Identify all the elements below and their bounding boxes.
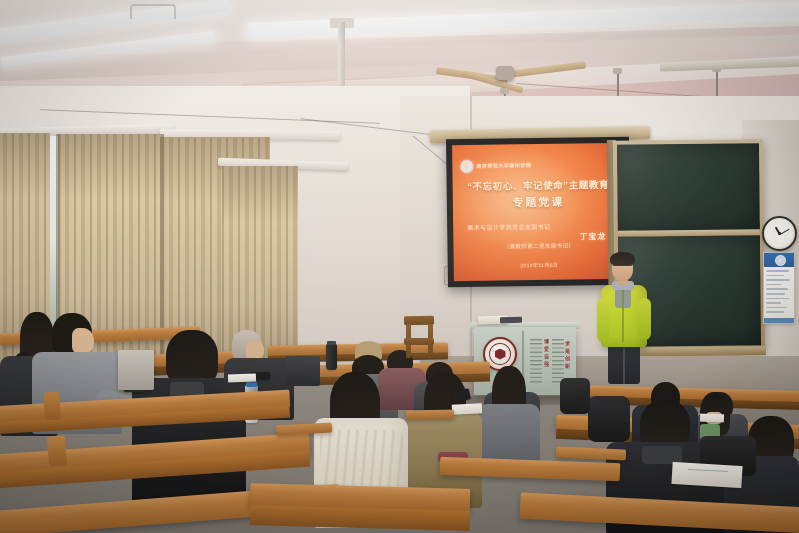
blackboard-upper-panel xyxy=(617,143,760,232)
paper-sheet xyxy=(228,374,256,383)
slide-title-line2: 专题党课 xyxy=(453,193,624,211)
light-bracket xyxy=(130,4,176,19)
wall-equipment-box xyxy=(118,350,154,390)
notice-header xyxy=(764,253,794,267)
paper-sheet xyxy=(700,414,724,423)
notice-text-lines xyxy=(766,270,792,316)
lamp-cap xyxy=(613,68,622,74)
jacket-zipper xyxy=(622,288,624,342)
bag xyxy=(560,378,590,414)
speaker-leg-gap xyxy=(623,348,625,384)
thermos-cap xyxy=(327,341,336,345)
equipment-case xyxy=(286,356,320,386)
desk-divider xyxy=(43,392,60,421)
slide-logo: 南京师范大学泰州学院 xyxy=(460,159,531,173)
backpack xyxy=(588,396,630,442)
thermos[interactable] xyxy=(326,344,337,370)
slide-logo-text: 南京师范大学泰州学院 xyxy=(476,162,531,170)
open-notebook xyxy=(452,403,482,415)
wall-clock xyxy=(762,216,797,251)
slide-title-line1: “不忘初心、牢记使命”主题教育 xyxy=(453,177,624,193)
podium-device xyxy=(500,317,522,324)
audience-face xyxy=(72,328,94,354)
audience-face xyxy=(246,340,264,360)
open-notebook xyxy=(671,462,742,488)
desk-divider xyxy=(47,435,67,466)
university-seal-icon xyxy=(460,160,473,173)
podium-motto-right: 求是创新 xyxy=(564,341,571,379)
seal-icon xyxy=(775,255,786,266)
slide-presenter-role: 美术与设计学院党总支副书记 xyxy=(467,222,550,232)
speaker-arm-right xyxy=(638,298,651,340)
podium-motto-left: 博爱自强 xyxy=(543,339,550,379)
bench-seat xyxy=(406,410,454,420)
classroom-photo: 南京师范大学泰州学院 “不忘初心、牢记使命”主题教育 专题党课 美术与设计学院党… xyxy=(0,0,799,533)
speaker-arm-left xyxy=(597,298,610,342)
projection-screen: 南京师范大学泰州学院 “不忘初心、牢记使命”主题教育 专题党课 美术与设计学院党… xyxy=(446,137,631,288)
projected-slide: 南京师范大学泰州学院 “不忘初心、牢记使命”主题教育 专题党课 美术与设计学院党… xyxy=(452,143,625,281)
notice-board xyxy=(763,252,795,324)
speaker-hair xyxy=(610,252,635,266)
glasses-icon xyxy=(613,265,632,271)
chair-seat xyxy=(404,338,434,345)
bottle-cap xyxy=(246,382,257,387)
